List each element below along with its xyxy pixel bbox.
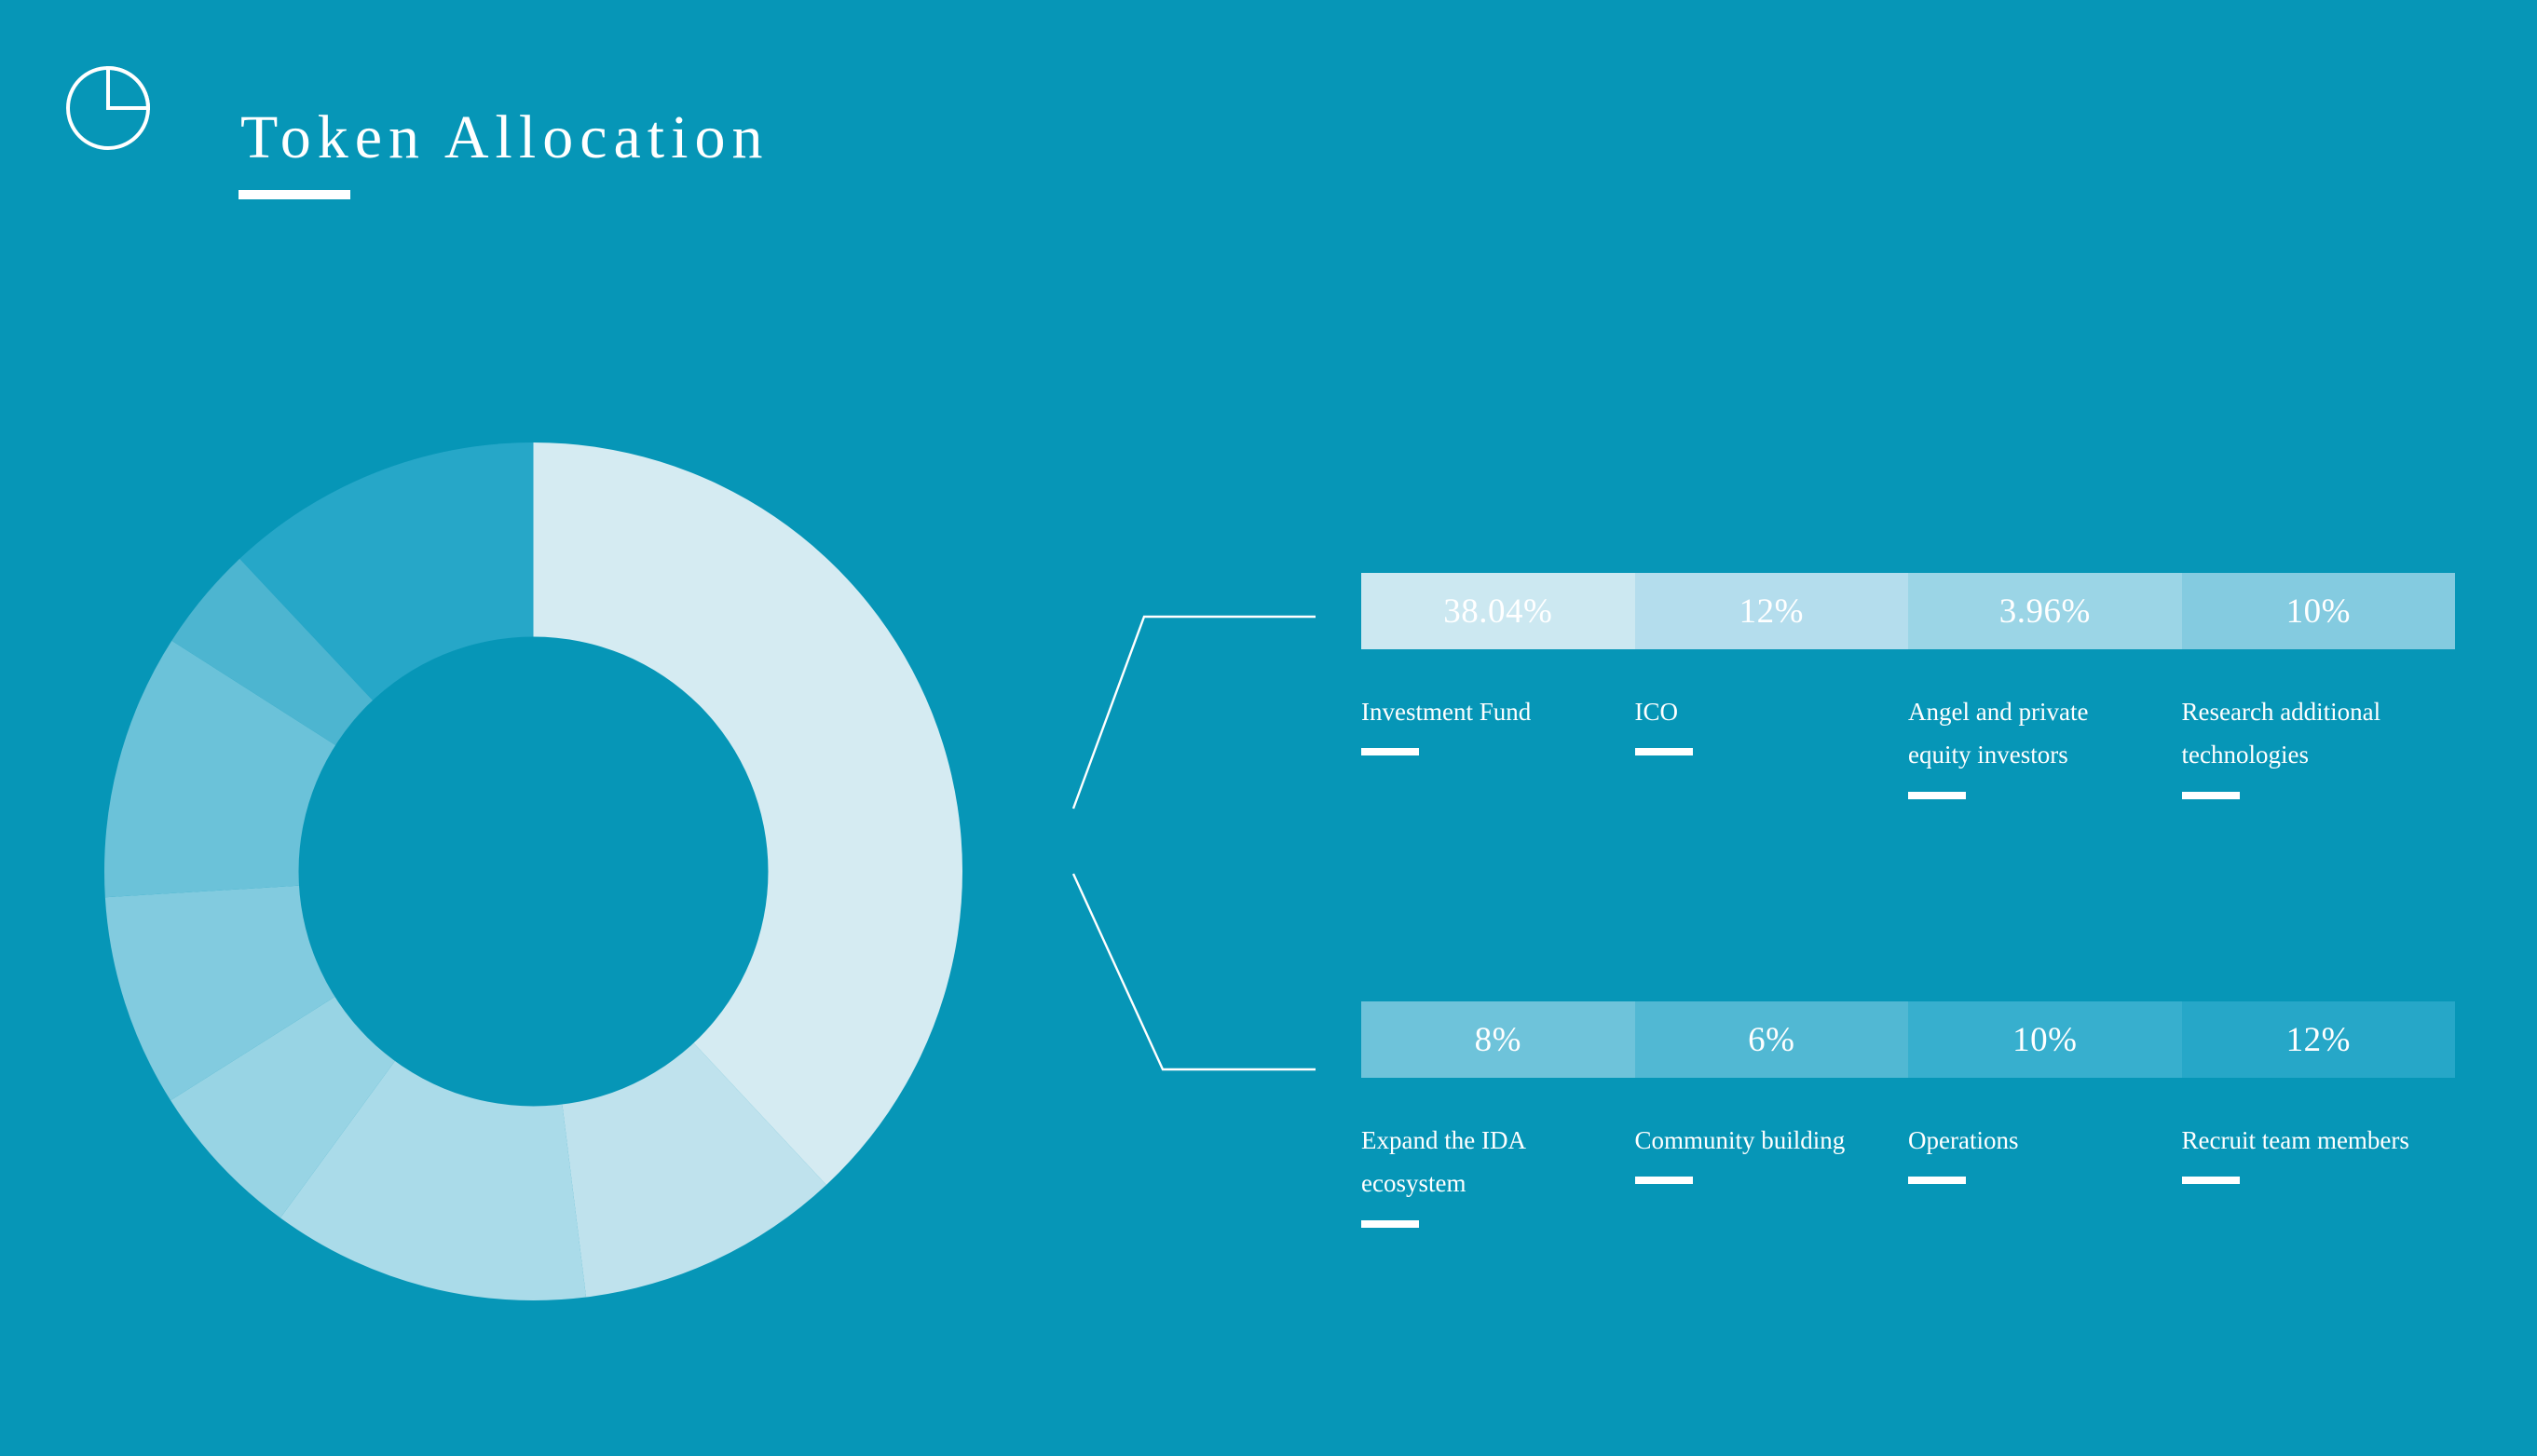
legend-item: ICO [1635, 690, 1909, 799]
pie-chart-icon [63, 63, 153, 153]
legend-label: Research additional technologies [2182, 690, 2426, 777]
page-header: Token Allocation [0, 0, 2537, 233]
legend-bar-row-2: 8% 6% 10% 12% [1361, 1001, 2455, 1078]
legend-label: Angel and private equity investors [1908, 690, 2152, 777]
legend-bar-cell[interactable]: 3.96% [1908, 573, 2182, 649]
legend-bar-cell[interactable]: 10% [1908, 1001, 2182, 1078]
legend-label: ICO [1635, 690, 1879, 733]
donut-hole [299, 637, 769, 1107]
legend-label: Investment Fund [1361, 690, 1605, 733]
legend-label-rule [1635, 748, 1693, 755]
legend-bar-cell[interactable]: 38.04% [1361, 573, 1635, 649]
legend-label-rule [1361, 1220, 1419, 1228]
page-title: Token Allocation [240, 102, 769, 173]
legend-label-row-2: Expand the IDA ecosystem Community build… [1361, 1119, 2455, 1228]
legend-label: Expand the IDA ecosystem [1361, 1119, 1605, 1205]
legend-bar-cell[interactable]: 12% [1635, 573, 1909, 649]
connector-lines [1025, 578, 1323, 1099]
legend-item: Investment Fund [1361, 690, 1635, 799]
legend-label-rule [1908, 1177, 1966, 1184]
legend-label: Community building [1635, 1119, 1879, 1162]
legend-group-1: 38.04% 12% 3.96% 10% Investment Fund ICO… [1361, 573, 2455, 799]
legend-bar-cell[interactable]: 10% [2182, 573, 2456, 649]
connector-line-bottom [1073, 874, 1316, 1069]
connector-line-top [1073, 617, 1316, 809]
legend-label-rule [2182, 1177, 2240, 1184]
legend-label-row-1: Investment Fund ICO Angel and private eq… [1361, 690, 2455, 799]
legend-bar-cell[interactable]: 6% [1635, 1001, 1909, 1078]
legend-item: Operations [1908, 1119, 2182, 1228]
legend-item: Angel and private equity investors [1908, 690, 2182, 799]
legend-bar-row-1: 38.04% 12% 3.96% 10% [1361, 573, 2455, 649]
legend-label: Operations [1908, 1119, 2152, 1162]
legend-item: Research additional technologies [2182, 690, 2456, 799]
legend-item: Recruit team members [2182, 1119, 2456, 1228]
legend-group-2: 8% 6% 10% 12% Expand the IDA ecosystem C… [1361, 1001, 2455, 1228]
legend-item: Community building [1635, 1119, 1909, 1228]
legend-label-rule [2182, 792, 2240, 799]
legend-label-rule [1361, 748, 1419, 755]
legend-bar-cell[interactable]: 12% [2182, 1001, 2456, 1078]
title-underline-rule [239, 190, 350, 199]
legend-bar-cell[interactable]: 8% [1361, 1001, 1635, 1078]
legend-item: Expand the IDA ecosystem [1361, 1119, 1635, 1228]
legend-label: Recruit team members [2182, 1119, 2426, 1162]
legend-label-rule [1908, 792, 1966, 799]
legend-label-rule [1635, 1177, 1693, 1184]
donut-chart [102, 441, 964, 1302]
